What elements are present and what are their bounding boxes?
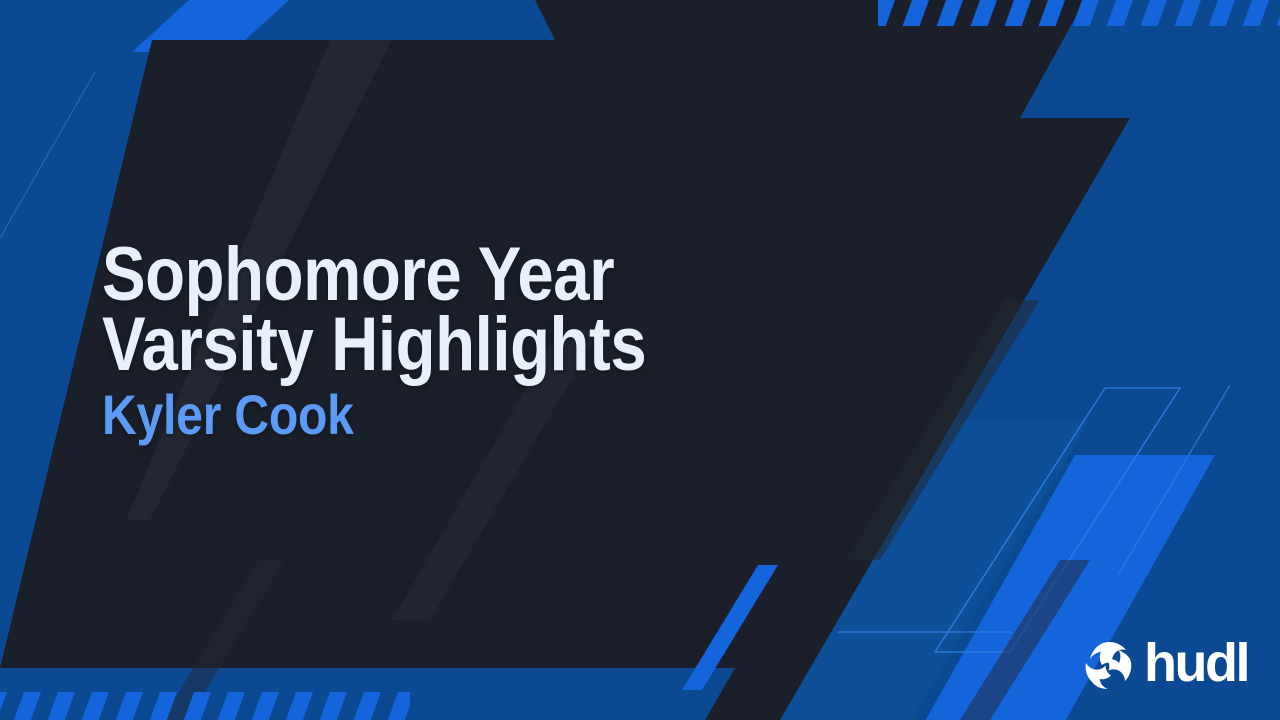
hudl-wordmark: hudl [1144, 636, 1248, 690]
athlete-name: Kyler Cook [102, 388, 756, 441]
hudl-logo-lockup: hudl [1084, 638, 1248, 692]
hatch-band-bottom-left [0, 692, 410, 720]
title-block: Sophomore Year Varsity Highlights Kyler … [102, 240, 862, 441]
hatch-band-top-right [878, 0, 1280, 26]
title-line-1: Sophomore Year [102, 240, 756, 310]
title-card: Sophomore Year Varsity Highlights Kyler … [0, 0, 1280, 720]
title-line-2: Varsity Highlights [102, 310, 756, 380]
hudl-triangle-mark-icon [1084, 640, 1134, 690]
